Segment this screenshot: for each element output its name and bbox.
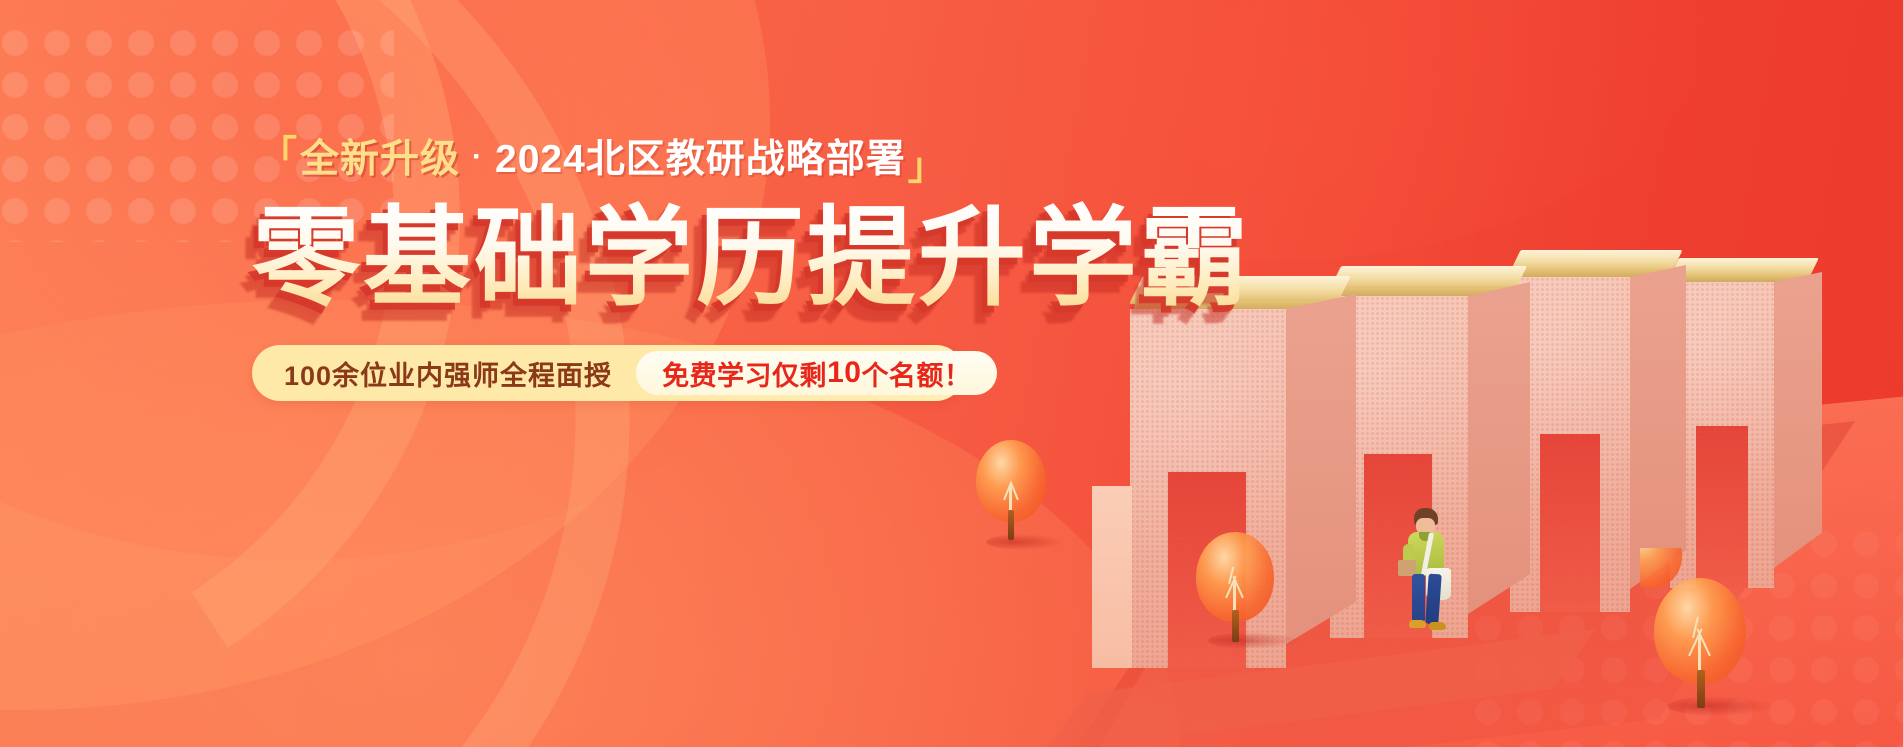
tree-shadow bbox=[1668, 696, 1774, 716]
book-cover-side bbox=[1774, 272, 1822, 568]
badge-free-slots-count: 10 bbox=[827, 356, 861, 390]
tree-1 bbox=[976, 440, 1056, 550]
bracket-open-icon: 「 bbox=[260, 136, 298, 173]
student-figure bbox=[1398, 508, 1464, 632]
badge-teachers-label: 100余位业内强师全程面授 bbox=[284, 354, 612, 393]
badge-free-slots[interactable]: 免费学习仅剩10个名额！ bbox=[636, 351, 997, 395]
book-arch-opening bbox=[1540, 434, 1600, 612]
person-leg-right bbox=[1425, 574, 1441, 625]
person-shoe-right bbox=[1429, 622, 1446, 630]
tree-trunk bbox=[1008, 510, 1014, 540]
tree-4-partial bbox=[1640, 548, 1686, 594]
subtitle-highlight: 全新升级 bbox=[300, 140, 460, 179]
subtitle-rest: 2024北区教研战略部署 bbox=[495, 140, 906, 179]
tree-2 bbox=[1196, 532, 1292, 650]
tree-canopy bbox=[1640, 548, 1682, 588]
banner-copy: 「 全新升级 · 2024北区教研战略部署 」 零基础学历提升学霸班 100余位… bbox=[252, 140, 1252, 401]
book-cover-side bbox=[1286, 294, 1356, 644]
tree-shadow bbox=[986, 534, 1064, 550]
promo-banner: 「 全新升级 · 2024北区教研战略部署 」 零基础学历提升学霸班 100余位… bbox=[0, 0, 1903, 747]
subtitle-separator-dot: · bbox=[472, 142, 483, 172]
standing-book-4 bbox=[1670, 258, 1822, 588]
book-cover-side bbox=[1630, 265, 1686, 589]
tree-3 bbox=[1654, 578, 1762, 718]
badge-free-slots-suffix: 个名额！ bbox=[861, 354, 971, 393]
book-cover-side bbox=[1468, 282, 1530, 614]
person-shoe-left bbox=[1409, 620, 1426, 628]
bracket-close-icon: 」 bbox=[908, 148, 946, 185]
book-arch-opening bbox=[1696, 426, 1748, 588]
offer-badge-bar: 100余位业内强师全程面授 免费学习仅剩10个名额！ bbox=[252, 345, 964, 401]
page-title: 零基础学历提升学霸班 bbox=[252, 201, 1252, 315]
tree-shadow bbox=[1208, 632, 1300, 649]
tree-trunk bbox=[1232, 610, 1239, 642]
tree-trunk bbox=[1697, 670, 1705, 708]
badge-free-slots-prefix: 免费学习仅剩 bbox=[662, 354, 827, 393]
banner-subtitle: 「 全新升级 · 2024北区教研战略部署 」 bbox=[260, 140, 1252, 179]
book-doorway-panel bbox=[1092, 486, 1132, 668]
person-leg-left bbox=[1412, 574, 1425, 622]
